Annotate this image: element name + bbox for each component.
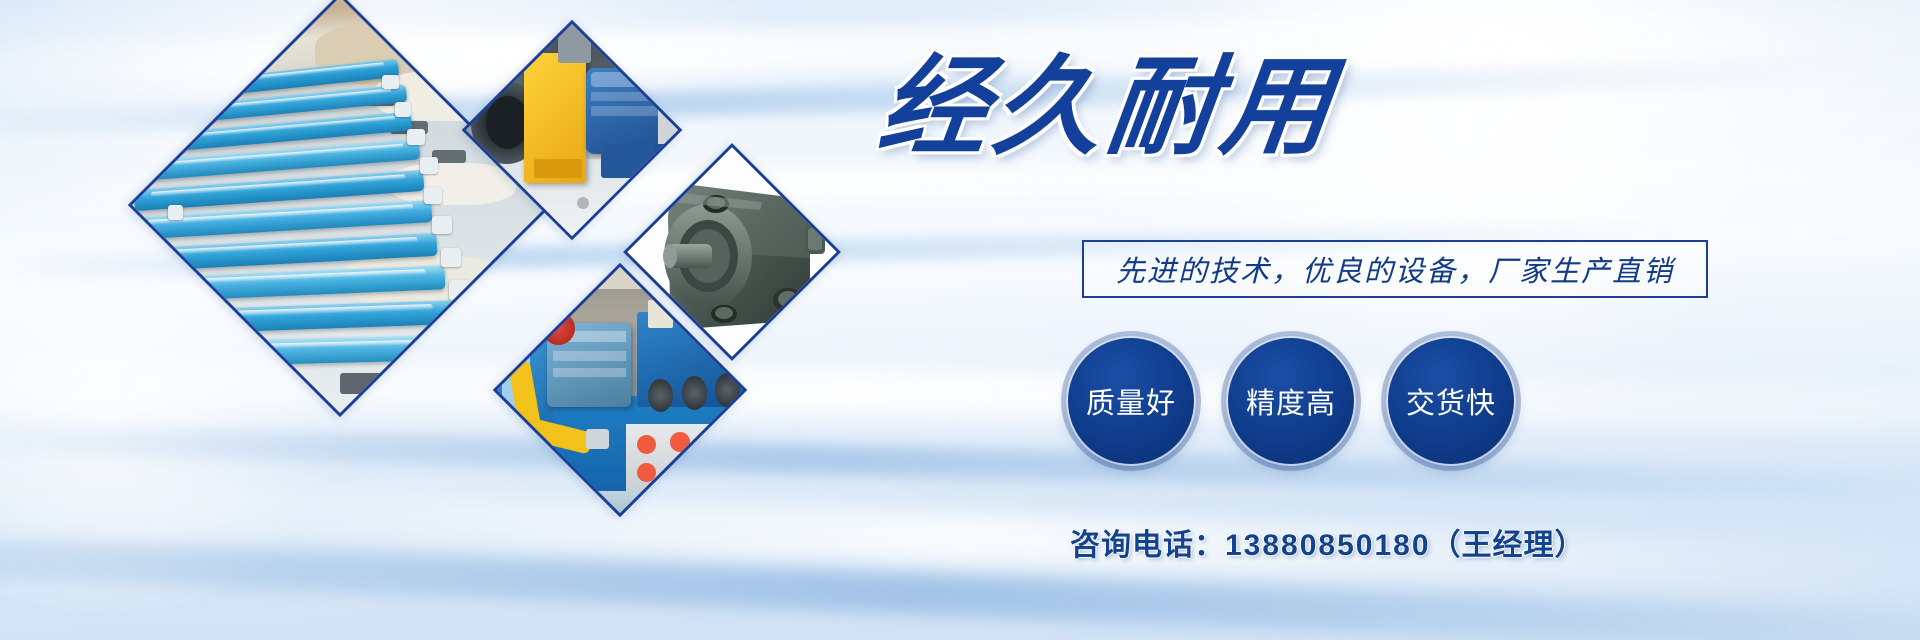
subtitle-text: 先进的技术，优良的设备，厂家生产直销 [1116, 248, 1674, 290]
headline-title: 经久耐用 [873, 48, 1708, 170]
contact-label: 咨询电话： [1070, 529, 1225, 562]
product-image-collage [0, 0, 900, 640]
feature-badge-precision[interactable]: 精度高 [1228, 338, 1354, 464]
feature-badge-group: 质量好 精度高 交货快 [1068, 338, 1514, 464]
contact-phone-line[interactable]: 咨询电话：13880850180（王经理） [1070, 520, 1586, 564]
contact-number[interactable]: 13880850180 [1225, 529, 1431, 562]
gallery-diamond-hydraulic-cylinders [128, 0, 552, 417]
feature-badge-label: 质量好 [1086, 380, 1176, 422]
feature-badge-label: 交货快 [1406, 380, 1496, 422]
contact-person: （王经理） [1431, 529, 1586, 562]
feature-badge-delivery[interactable]: 交货快 [1388, 338, 1514, 464]
gallery-image-hydraulic-cylinders [130, 0, 550, 415]
feature-badge-quality[interactable]: 质量好 [1068, 338, 1194, 464]
feature-badge-label: 精度高 [1246, 380, 1336, 422]
subtitle-box: 先进的技术，优良的设备，厂家生产直销 [1082, 240, 1708, 298]
promo-banner: 经久耐用 先进的技术，优良的设备，厂家生产直销 质量好 精度高 交货快 咨询电话… [0, 0, 1920, 640]
